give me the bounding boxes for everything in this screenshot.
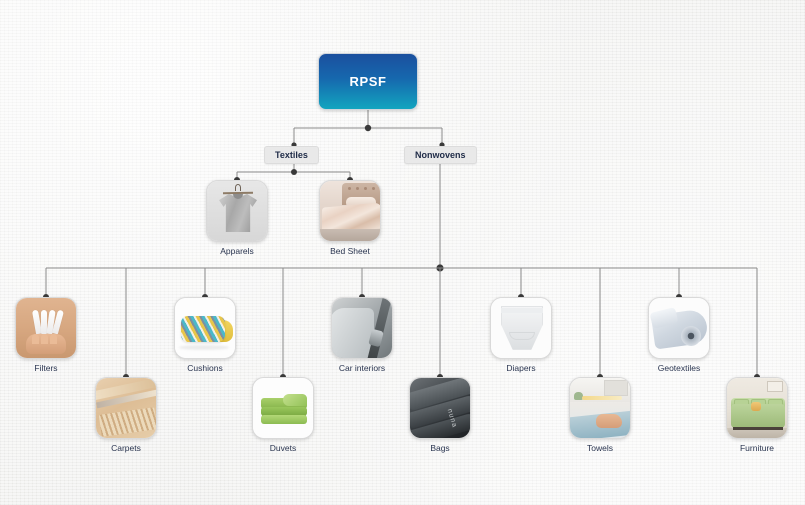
root-node-rpsf[interactable]: RPSF xyxy=(318,53,418,110)
leaf-label-bed-sheet: Bed Sheet xyxy=(319,246,381,256)
towels-thumbnail[interactable] xyxy=(569,377,631,439)
leaf-filters[interactable]: Filters xyxy=(15,297,77,373)
leaf-label-car-interiors: Car interiors xyxy=(319,363,405,373)
leaf-towels[interactable]: Towels xyxy=(569,377,631,453)
leaf-apparels[interactable]: Apparels xyxy=(206,180,268,256)
cushions-thumbnail[interactable] xyxy=(174,297,236,359)
category-label-nonwovens: Nonwovens xyxy=(415,150,466,160)
leaf-geotextiles[interactable]: Geotextiles xyxy=(636,297,722,373)
leaf-cushions[interactable]: Cushions xyxy=(162,297,248,373)
category-node-textiles[interactable]: Textiles xyxy=(264,146,319,164)
leaf-bags[interactable]: nuna Bags xyxy=(409,377,471,453)
leaf-label-towels: Towels xyxy=(569,443,631,453)
apparels-thumbnail[interactable] xyxy=(206,180,268,242)
leaf-label-apparels: Apparels xyxy=(206,246,268,256)
leaf-diapers[interactable]: Diapers xyxy=(478,297,564,373)
leaf-label-cushions: Cushions xyxy=(162,363,248,373)
category-label-textiles: Textiles xyxy=(275,150,308,160)
diagram-canvas: RPSF Textiles Nonwovens Apparels Bed She… xyxy=(0,0,805,505)
leaf-duvets[interactable]: Duvets xyxy=(252,377,314,453)
leaf-label-furniture: Furniture xyxy=(726,443,788,453)
leaf-label-duvets: Duvets xyxy=(252,443,314,453)
leaf-label-filters: Filters xyxy=(15,363,77,373)
leaf-label-geotextiles: Geotextiles xyxy=(636,363,722,373)
car-interiors-thumbnail[interactable] xyxy=(331,297,393,359)
leaf-carpets[interactable]: Carpets xyxy=(95,377,157,453)
leaf-label-bags: Bags xyxy=(409,443,471,453)
duvets-thumbnail[interactable] xyxy=(252,377,314,439)
category-node-nonwovens[interactable]: Nonwovens xyxy=(404,146,477,164)
bags-thumbnail[interactable]: nuna xyxy=(409,377,471,439)
bed-sheet-thumbnail[interactable] xyxy=(319,180,381,242)
leaf-furniture[interactable]: Furniture xyxy=(726,377,788,453)
geotextiles-thumbnail[interactable] xyxy=(648,297,710,359)
carpets-thumbnail[interactable] xyxy=(95,377,157,439)
leaf-label-diapers: Diapers xyxy=(478,363,564,373)
leaf-bed-sheet[interactable]: Bed Sheet xyxy=(319,180,381,256)
furniture-thumbnail[interactable] xyxy=(726,377,788,439)
diapers-thumbnail[interactable] xyxy=(490,297,552,359)
filters-thumbnail[interactable] xyxy=(15,297,77,359)
leaf-car-interiors[interactable]: Car interiors xyxy=(319,297,405,373)
leaf-label-carpets: Carpets xyxy=(95,443,157,453)
root-node-label: RPSF xyxy=(349,74,386,89)
